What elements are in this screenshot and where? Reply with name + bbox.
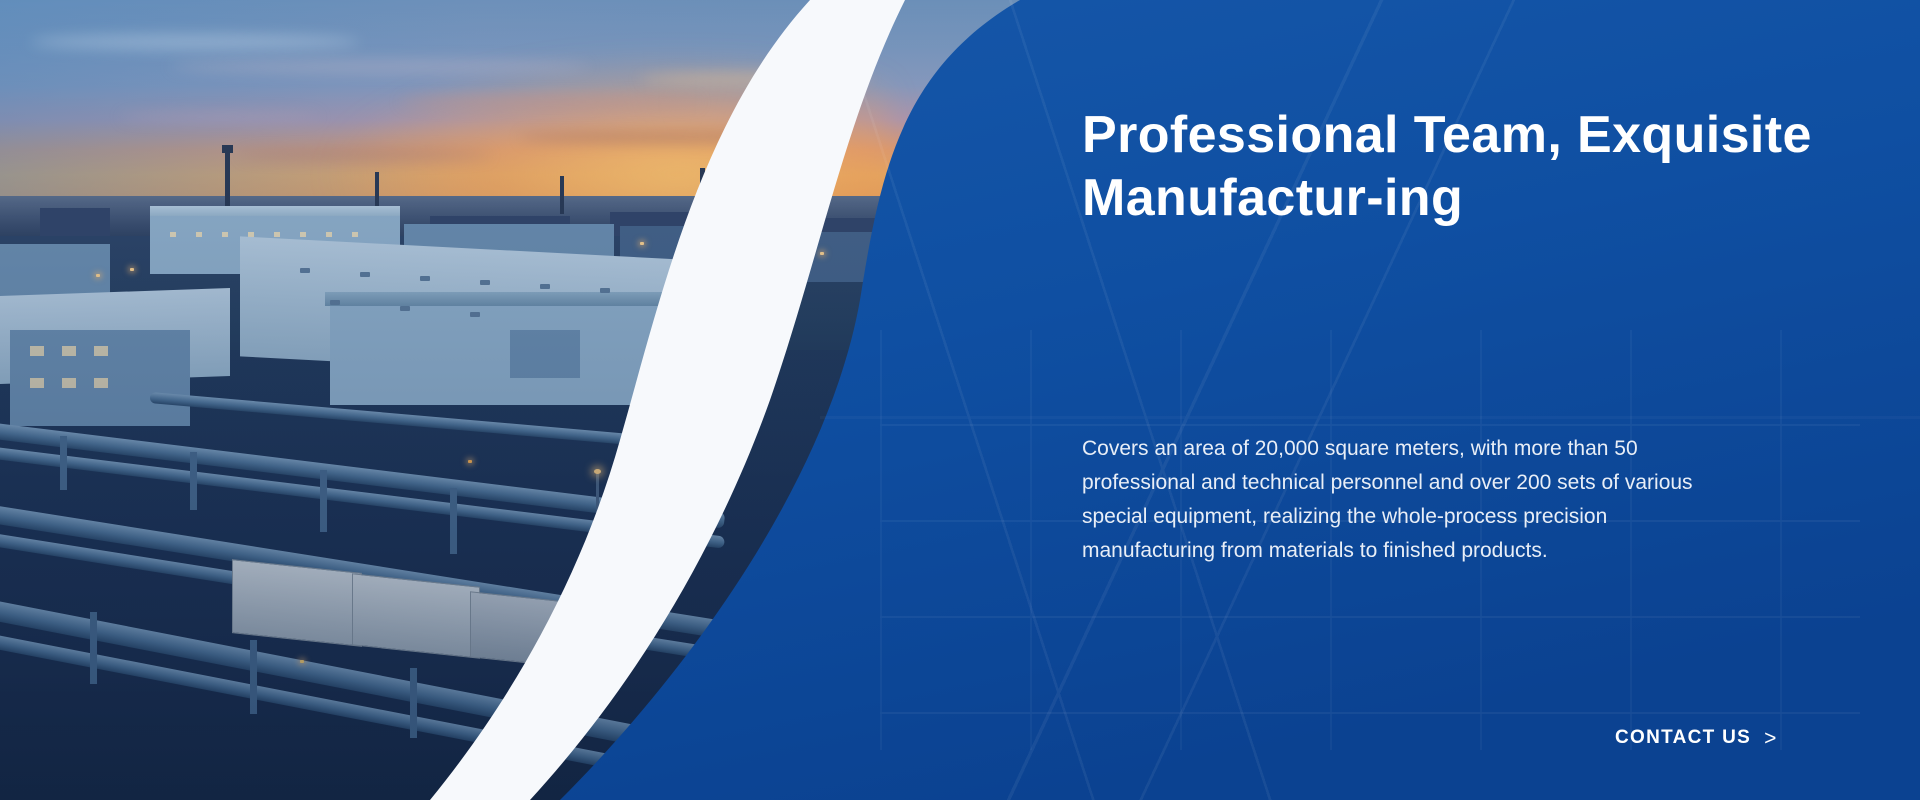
banner-content: Professional Team, Exquisite Manufactur-…: [1082, 0, 1822, 800]
contact-us-label: CONTACT US: [1615, 727, 1751, 749]
chevron-right-icon: >: [1764, 728, 1778, 749]
banner-description: Covers an area of 20,000 square meters, …: [1082, 432, 1722, 568]
page-title: Professional Team, Exquisite Manufactur-…: [1082, 104, 1842, 231]
hero-banner: Professional Team, Exquisite Manufactur-…: [0, 0, 1920, 800]
white-curve-divider: [0, 0, 1200, 800]
contact-us-button[interactable]: CONTACT US >: [1615, 727, 1778, 749]
